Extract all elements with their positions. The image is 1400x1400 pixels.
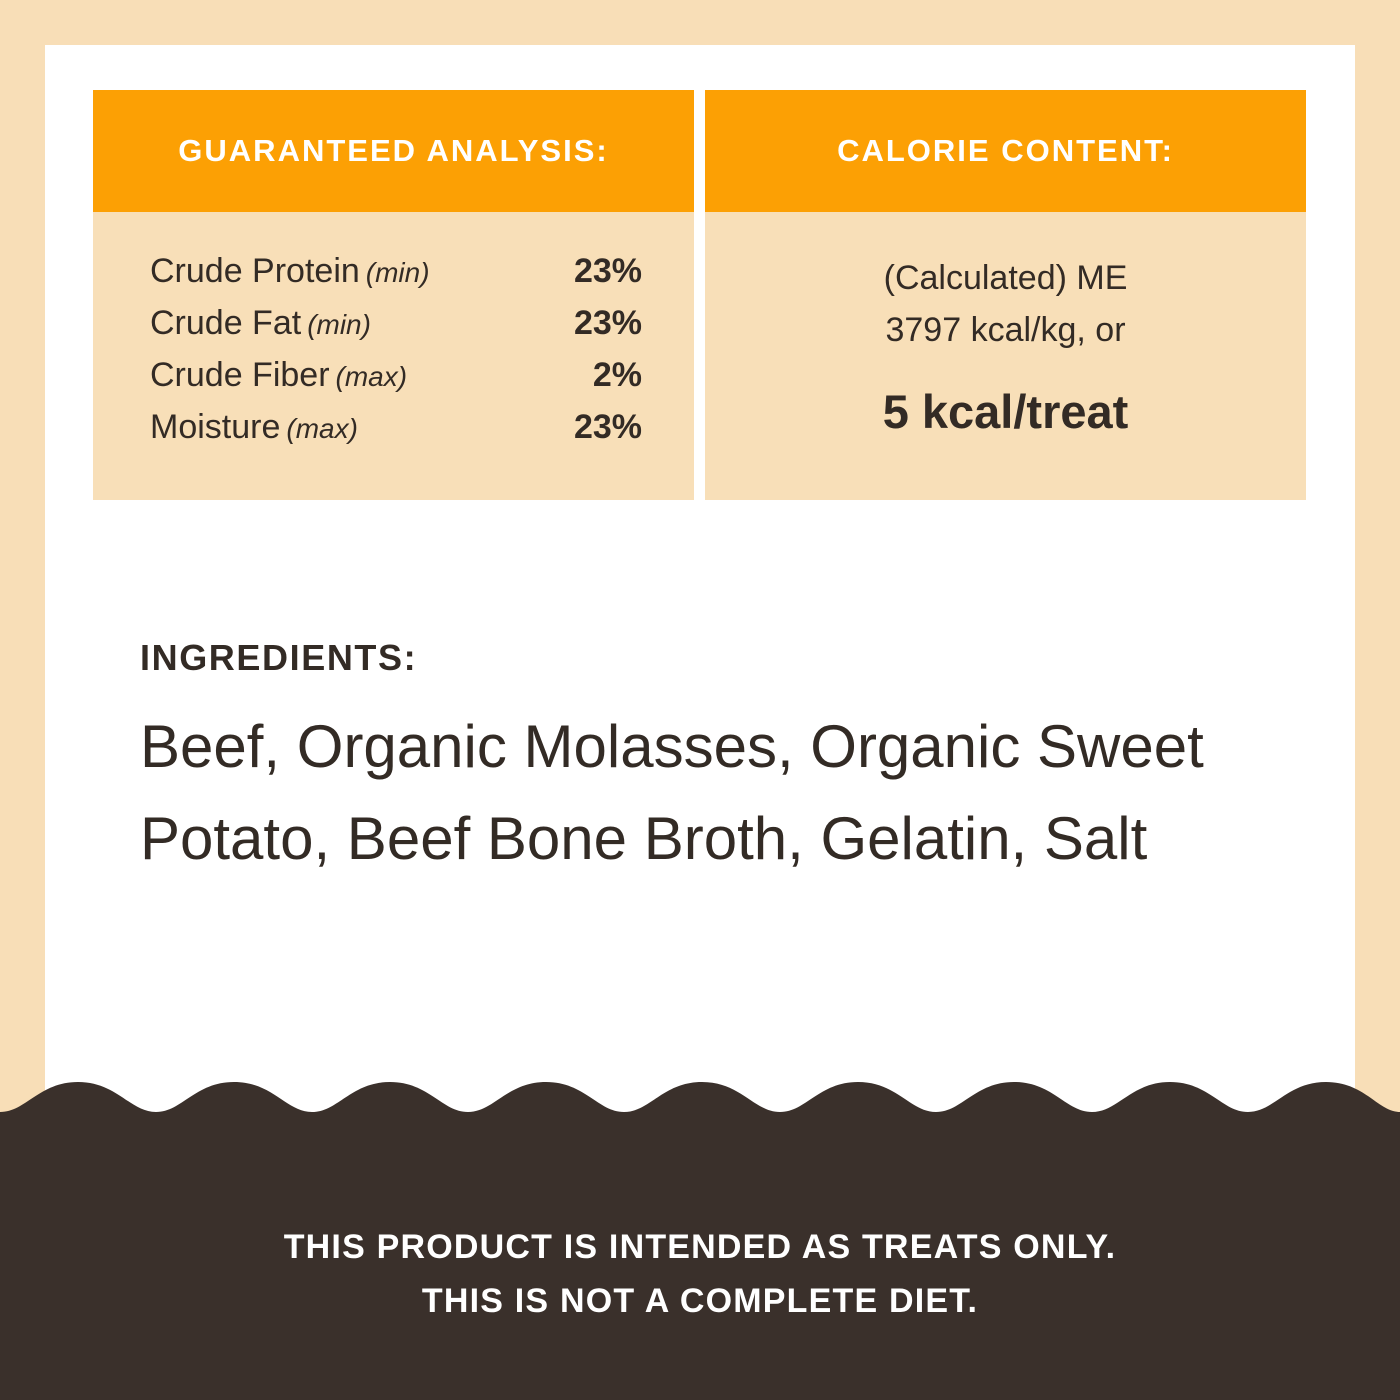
nutrient-label: Moisture(max) — [150, 408, 358, 447]
ingredients-list-text: Beef, Organic Molasses, Organic Sweet Po… — [140, 701, 1235, 885]
nutrient-value: 2% — [593, 356, 642, 395]
nutrient-name: Moisture — [150, 408, 280, 446]
guaranteed-analysis-panel: GUARANTEED ANALYSIS: Crude Protein(min) … — [93, 90, 694, 500]
calorie-content-body: (Calculated) ME 3797 kcal/kg, or 5 kcal/… — [705, 212, 1306, 500]
nutrition-panels-row: GUARANTEED ANALYSIS: Crude Protein(min) … — [93, 90, 1306, 500]
ingredients-heading: INGREDIENTS: — [140, 637, 1270, 679]
calorie-content-header-label: CALORIE CONTENT: — [837, 133, 1174, 169]
guaranteed-analysis-rows: Crude Protein(min) 23% Crude Fat(min) 23… — [150, 252, 642, 460]
guaranteed-analysis-body: Crude Protein(min) 23% Crude Fat(min) 23… — [93, 212, 694, 500]
table-row: Moisture(max) 23% — [150, 408, 642, 460]
ingredients-section: INGREDIENTS: Beef, Organic Molasses, Org… — [140, 637, 1270, 885]
footer-disclaimer-line-1: THIS PRODUCT IS INTENDED AS TREATS ONLY. — [0, 1220, 1400, 1274]
calorie-content-lines: (Calculated) ME 3797 kcal/kg, or 5 kcal/… — [705, 252, 1306, 439]
nutrient-name: Crude Protein — [150, 252, 360, 290]
nutrient-label: Crude Protein(min) — [150, 252, 430, 291]
nutrient-qualifier: (max) — [286, 413, 358, 444]
table-row: Crude Fat(min) 23% — [150, 304, 642, 356]
guaranteed-analysis-header-label: GUARANTEED ANALYSIS: — [178, 133, 608, 169]
nutrient-qualifier: (max) — [336, 361, 408, 392]
footer-disclaimer-line-2: THIS IS NOT A COMPLETE DIET. — [0, 1274, 1400, 1328]
table-row: Crude Fiber(max) 2% — [150, 356, 642, 408]
nutrient-value: 23% — [574, 304, 642, 343]
calorie-content-panel: CALORIE CONTENT: (Calculated) ME 3797 kc… — [705, 90, 1306, 500]
nutrient-value: 23% — [574, 252, 642, 291]
calorie-per-treat-value: 5 kcal/treat — [705, 384, 1306, 439]
nutrient-value: 23% — [574, 408, 642, 447]
calorie-line-kcal-per-kg: 3797 kcal/kg, or — [705, 304, 1306, 356]
table-row: Crude Protein(min) 23% — [150, 252, 642, 304]
footer-disclaimer: THIS PRODUCT IS INTENDED AS TREATS ONLY.… — [0, 1220, 1400, 1328]
scalloped-footer: THIS PRODUCT IS INTENDED AS TREATS ONLY.… — [0, 1070, 1400, 1400]
calorie-content-header: CALORIE CONTENT: — [705, 90, 1306, 212]
nutrient-qualifier: (min) — [366, 257, 430, 288]
guaranteed-analysis-header: GUARANTEED ANALYSIS: — [93, 90, 694, 212]
calorie-line-calculated-me: (Calculated) ME — [705, 252, 1306, 304]
nutrient-name: Crude Fiber — [150, 356, 330, 394]
nutrient-name: Crude Fat — [150, 304, 301, 342]
nutrient-qualifier: (min) — [307, 309, 371, 340]
nutrient-label: Crude Fat(min) — [150, 304, 371, 343]
nutrient-label: Crude Fiber(max) — [150, 356, 407, 395]
